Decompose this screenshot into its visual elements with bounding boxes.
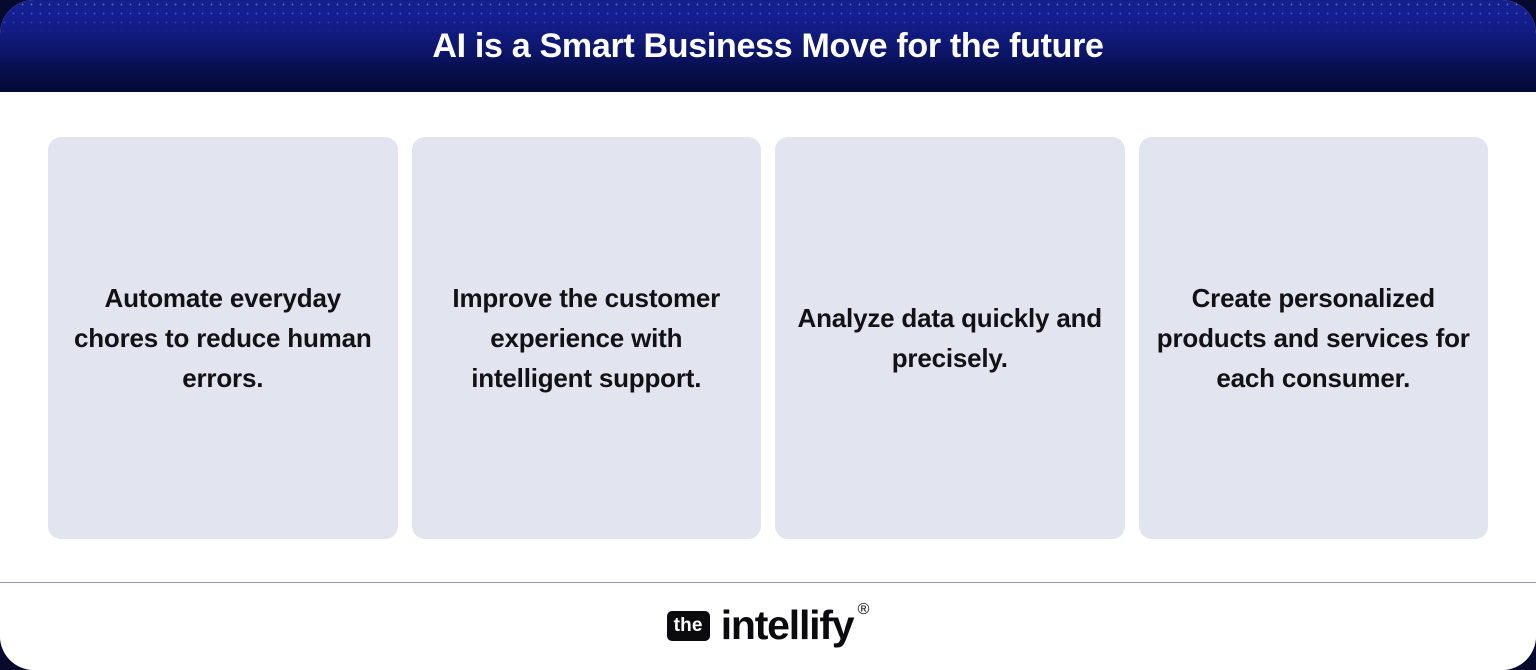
logo-the-badge: the [667,611,710,641]
benefit-card-1-text: Automate everyday chores to reduce human… [66,278,380,399]
header-banner: AI is a Smart Business Move for the futu… [0,0,1536,92]
benefit-card-2: Improve the customer experience with int… [412,137,762,539]
benefit-card-4: Create personalized products and service… [1139,137,1489,539]
card-list: Automate everyday chores to reduce human… [48,137,1488,539]
logo-wordmark-text: intellify [721,602,854,648]
page-title: AI is a Smart Business Move for the futu… [0,0,1536,92]
infographic-container: AI is a Smart Business Move for the futu… [0,0,1536,670]
logo-wordmark: intellify® [721,605,870,646]
registered-trademark-icon: ® [858,602,870,618]
footer: the intellify® [0,583,1536,670]
benefit-card-1: Automate everyday chores to reduce human… [48,137,398,539]
benefit-card-2-text: Improve the customer experience with int… [430,278,744,399]
benefit-card-4-text: Create personalized products and service… [1157,278,1471,399]
cards-region: Automate everyday chores to reduce human… [0,92,1536,582]
benefit-card-3-text: Analyze data quickly and precisely. [793,298,1107,379]
intellify-logo: the intellify® [667,605,870,646]
footer-divider [0,582,1536,583]
benefit-card-3: Analyze data quickly and precisely. [775,137,1125,539]
